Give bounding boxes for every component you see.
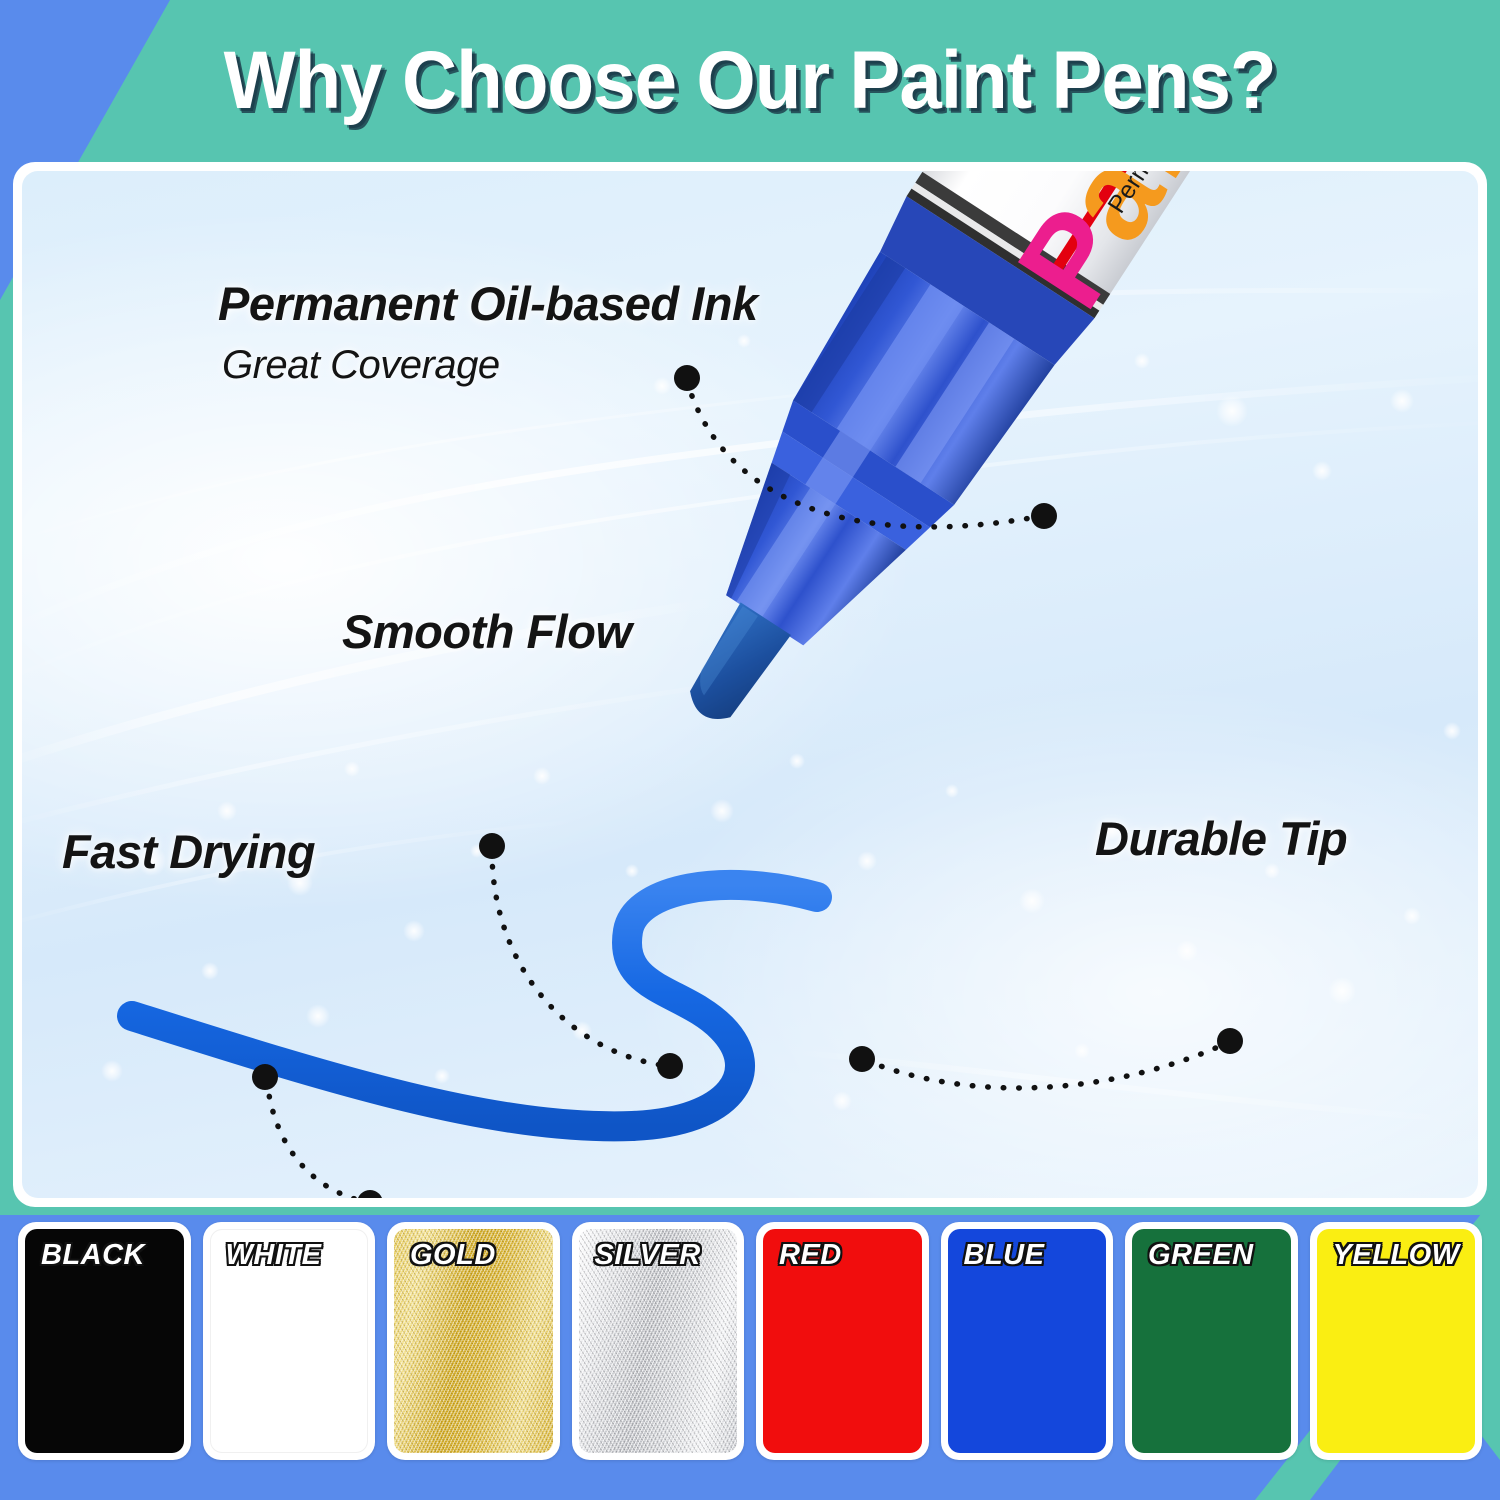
color-swatch-black[interactable]: BLACK	[18, 1222, 191, 1460]
swatch-fill-green: GREEN	[1132, 1229, 1291, 1453]
swatch-label-white: WHITE	[226, 1239, 322, 1272]
dot-smooth-end	[657, 1053, 683, 1079]
swatch-fill-blue: BLUE	[948, 1229, 1107, 1453]
feature-label-smooth-flow: Smooth Flow	[342, 604, 632, 659]
swatch-label-gold: GOLD	[410, 1239, 496, 1272]
color-swatch-white[interactable]: WHITE	[203, 1222, 376, 1460]
leader-line-durable	[867, 1043, 1227, 1088]
swatch-fill-red: RED	[763, 1229, 922, 1453]
dot-fast-start	[252, 1064, 278, 1090]
swatch-label-yellow: YELLOW	[1333, 1239, 1460, 1272]
ink-stroke	[132, 885, 817, 1126]
main-panel: Oil Based P a i n t Permanent Marker auf…	[13, 162, 1487, 1207]
dot-durable-start	[1217, 1028, 1243, 1054]
swatch-label-green: GREEN	[1148, 1239, 1254, 1272]
color-swatch-blue[interactable]: BLUE	[941, 1222, 1114, 1460]
swatch-label-red: RED	[779, 1239, 842, 1272]
page-title: Why Choose Our Paint Pens?	[224, 34, 1276, 128]
feature-sublabel-oil-ink: Great Coverage	[222, 343, 500, 388]
feature-label-durable-tip: Durable Tip	[1095, 811, 1347, 866]
dot-oil-ink-start	[674, 365, 700, 391]
color-swatch-strip: BLACK WHITE GOLD SILVER RED BLUE GREEN Y…	[0, 1222, 1500, 1482]
feature-label-fast-drying: Fast Drying	[62, 824, 315, 879]
dot-oil-ink-end	[1031, 503, 1057, 529]
color-swatch-silver[interactable]: SILVER	[572, 1222, 745, 1460]
color-swatch-red[interactable]: RED	[756, 1222, 929, 1460]
feature-label-oil-ink: Permanent Oil-based Ink	[218, 276, 758, 331]
swatch-fill-silver: SILVER	[579, 1229, 738, 1453]
color-swatch-gold[interactable]: GOLD	[387, 1222, 560, 1460]
swatch-fill-yellow: YELLOW	[1317, 1229, 1476, 1453]
color-swatch-green[interactable]: GREEN	[1125, 1222, 1298, 1460]
dot-smooth-start	[479, 833, 505, 859]
color-swatch-yellow[interactable]: YELLOW	[1310, 1222, 1483, 1460]
header: Why Choose Our Paint Pens?	[0, 0, 1500, 162]
swatch-label-black: BLACK	[41, 1239, 145, 1272]
leader-line-fast	[267, 1081, 367, 1198]
swatch-label-silver: SILVER	[595, 1239, 701, 1272]
swatch-fill-gold: GOLD	[394, 1229, 553, 1453]
swatch-fill-black: BLACK	[25, 1229, 184, 1453]
dot-durable-end	[849, 1046, 875, 1072]
panel-illustration-area: Oil Based P a i n t Permanent Marker auf…	[22, 171, 1478, 1198]
swatch-fill-white: WHITE	[210, 1229, 369, 1453]
paint-marker-pen: Oil Based P a i n t Permanent Marker auf…	[609, 171, 1350, 786]
swatch-label-blue: BLUE	[964, 1239, 1045, 1272]
dot-fast-end	[357, 1190, 383, 1198]
